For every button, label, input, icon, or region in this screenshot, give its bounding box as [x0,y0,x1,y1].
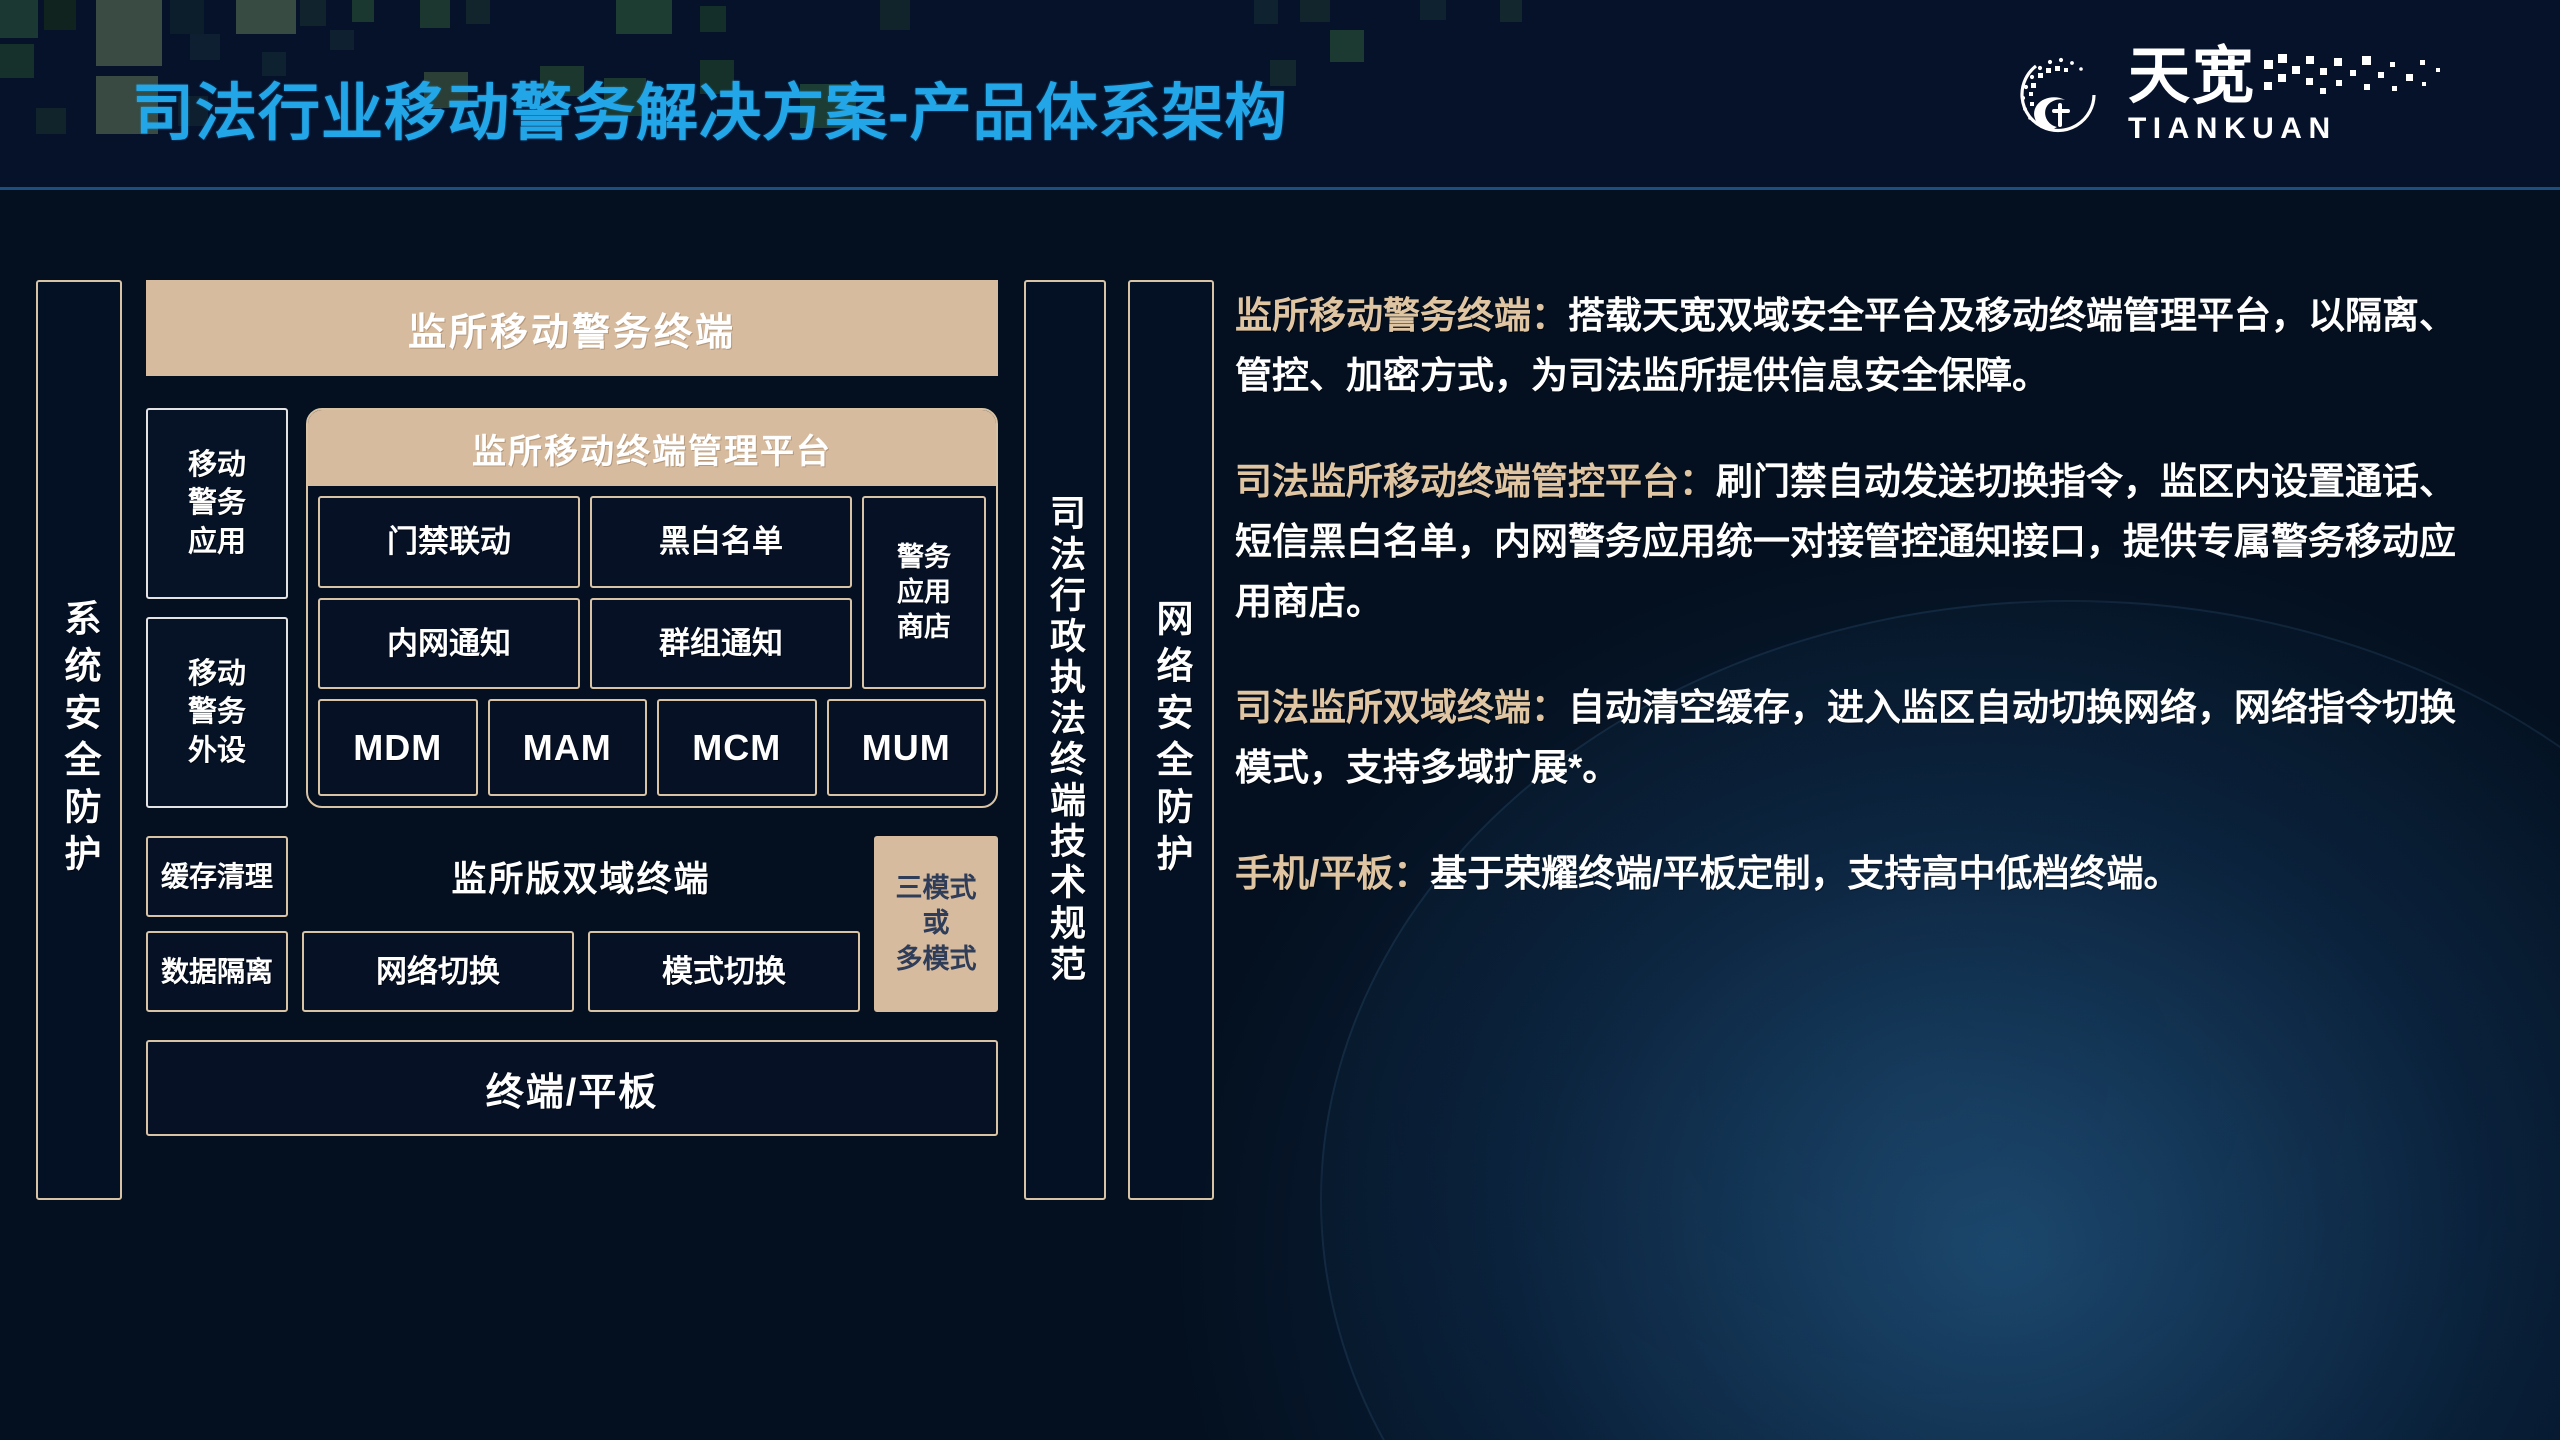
dual-domain-left-column: 缓存清理 数据隔离 [146,836,288,1012]
management-upper-grid: 门禁联动 黑白名单 内网通知 群组通知 警务 应用 商店 [318,496,986,689]
cell-mdm[interactable]: MDM [318,699,478,796]
cell-mum[interactable]: MUM [827,699,987,796]
management-feature-grid: 门禁联动 黑白名单 内网通知 群组通知 [318,496,852,689]
paragraph-lead: 司法监所双域终端： [1235,687,1568,728]
cell-mam[interactable]: MAM [488,699,648,796]
judicial-spec-label: 司法行政执法终端技术规范 [1039,494,1091,986]
main-stack: 监所移动警务终端 移动 警务 应用 移动 警务 外设 监所移动终端管理平台 门禁… [146,280,998,1200]
description-paragraph: 司法监所移动终端管控平台：刷门禁自动发送切换指令，监区内设置通话、短信黑白名单，… [1235,452,2480,632]
page-title: 司法行业移动警务解决方案-产品体系架构 [132,62,1288,152]
management-platform-body: 门禁联动 黑白名单 内网通知 群组通知 警务 应用 商店 MDM MAM [308,486,996,806]
cell-data-isolation[interactable]: 数据隔离 [146,931,288,1012]
dual-domain-cells: 网络切换 模式切换 [302,931,860,1012]
logo-english-name: TIANKUAN [2128,114,2452,144]
cell-police-app-store[interactable]: 警务 应用 商店 [862,496,986,689]
cell-mcm[interactable]: MCM [657,699,817,796]
system-security-column: 系统安全防护 [36,280,122,1200]
mosaic-square [1500,0,1522,22]
brand-logo: 天宽 [2010,46,2452,144]
mosaic-square [96,0,162,66]
cell-cache-clean[interactable]: 缓存清理 [146,836,288,917]
mosaic-square [700,6,726,32]
cell-network-switch[interactable]: 网络切换 [302,931,574,1012]
dual-domain-row: 缓存清理 数据隔离 监所版双域终端 网络切换 模式切换 三模式 或 多模式 [146,836,998,1012]
terminal-header-bar: 监所移动警务终端 [146,280,998,376]
mosaic-square [420,0,450,28]
network-security-label: 网络安全防护 [1144,599,1198,881]
paragraph-body: 基于荣耀终端/平板定制，支持高中低档终端。 [1430,853,2180,894]
mosaic-square [300,0,326,26]
cell-multi-mode[interactable]: 三模式 或 多模式 [874,836,998,1012]
judicial-spec-column: 司法行政执法终端技术规范 [1024,280,1106,1200]
cell-mode-switch[interactable]: 模式切换 [588,931,860,1012]
mosaic-square [352,0,374,22]
feature-row-2: 内网通知 群组通知 [318,598,852,690]
description-panel: 监所移动警务终端：搭载天宽双域安全平台及移动终端管理平台，以隔离、管控、加密方式… [1235,286,2480,950]
description-paragraph: 手机/平板：基于荣耀终端/平板定制，支持高中低档终端。 [1235,844,2480,904]
mosaic-square [190,34,220,60]
mosaic-square [1300,0,1330,22]
dual-domain-center: 监所版双域终端 网络切换 模式切换 [302,836,860,1012]
feature-row-1: 门禁联动 黑白名单 [318,496,852,588]
logo-wordmark: 天宽 [2128,46,2452,144]
mosaic-square [0,0,38,38]
logo-pixel-dots [2262,52,2452,108]
mosaic-square [44,0,76,30]
mosaic-square [236,0,296,34]
paragraph-lead: 手机/平板： [1235,853,1430,894]
mosaic-square [616,0,672,34]
paragraph-lead: 司法监所移动终端管控平台： [1235,461,1716,502]
device-bar: 终端/平板 [146,1040,998,1136]
description-paragraph: 司法监所双域终端：自动清空缓存，进入监区自动切换网络，网络指令切换模式，支持多域… [1235,678,2480,798]
logo-chinese-name: 天宽 [2128,46,2256,108]
mosaic-square [466,0,490,24]
mosaic-square [880,0,910,30]
cell-access-control[interactable]: 门禁联动 [318,496,580,588]
dual-domain-title: 监所版双域终端 [302,836,860,917]
cell-group-notice[interactable]: 群组通知 [590,598,852,690]
cell-intranet-notice[interactable]: 内网通知 [318,598,580,690]
side-column: 移动 警务 应用 移动 警务 外设 [146,408,288,808]
mosaic-square [1254,0,1278,24]
cell-blackwhite-list[interactable]: 黑白名单 [590,496,852,588]
mosaic-square [36,108,66,134]
tiankuan-swirl-icon [2010,47,2106,143]
management-platform-panel: 监所移动终端管理平台 门禁联动 黑白名单 内网通知 群组通知 [306,408,998,808]
paragraph-lead: 监所移动警务终端： [1235,295,1568,336]
management-lower-grid: MDM MAM MCM MUM [318,699,986,796]
network-security-column: 网络安全防护 [1128,280,1214,1200]
mosaic-square [170,0,204,34]
mosaic-square [1420,0,1446,20]
mosaic-square [330,30,354,50]
description-paragraph: 监所移动警务终端：搭载天宽双域安全平台及移动终端管理平台，以隔离、管控、加密方式… [1235,286,2480,406]
header-band: 司法行业移动警务解决方案-产品体系架构 [0,0,2560,190]
system-security-label: 系统安全防护 [52,599,106,881]
architecture-diagram: 系统安全防护 监所移动警务终端 移动 警务 应用 移动 警务 外设 监所移动终端… [36,280,1216,1200]
mobile-police-peripheral-box[interactable]: 移动 警务 外设 [146,617,288,808]
mosaic-square [1330,30,1364,62]
management-platform-title: 监所移动终端管理平台 [308,410,996,486]
mosaic-square [0,44,34,78]
middle-row: 移动 警务 应用 移动 警务 外设 监所移动终端管理平台 门禁联动 黑白名单 内… [146,408,998,808]
mobile-police-app-box[interactable]: 移动 警务 应用 [146,408,288,599]
